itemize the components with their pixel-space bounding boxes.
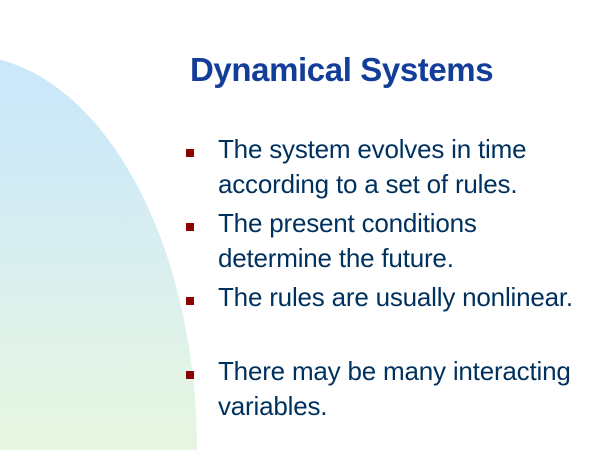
list-item: There may be many interacting variables.	[186, 354, 586, 426]
slide-title: Dynamical Systems	[190, 50, 570, 90]
slide-canvas: Dynamical Systems The system evolves in …	[0, 0, 600, 450]
bullet-list: The system evolves in time according to …	[186, 132, 586, 428]
square-bullet-icon	[186, 223, 194, 231]
list-item-label: The system evolves in time according to …	[218, 132, 586, 202]
list-item: The rules are usually nonlinear.	[186, 280, 586, 352]
square-bullet-icon	[186, 149, 194, 157]
square-bullet-icon	[186, 297, 194, 305]
list-item: The system evolves in time according to …	[186, 132, 586, 204]
square-bullet-icon	[186, 371, 194, 379]
list-item: The present conditions determine the fut…	[186, 206, 586, 278]
gradient-swoosh-decoration	[0, 55, 197, 450]
list-item-label: The present conditions determine the fut…	[218, 206, 586, 276]
list-item-label: The rules are usually nonlinear.	[218, 280, 586, 315]
list-item-label: There may be many interacting variables.	[218, 354, 586, 424]
